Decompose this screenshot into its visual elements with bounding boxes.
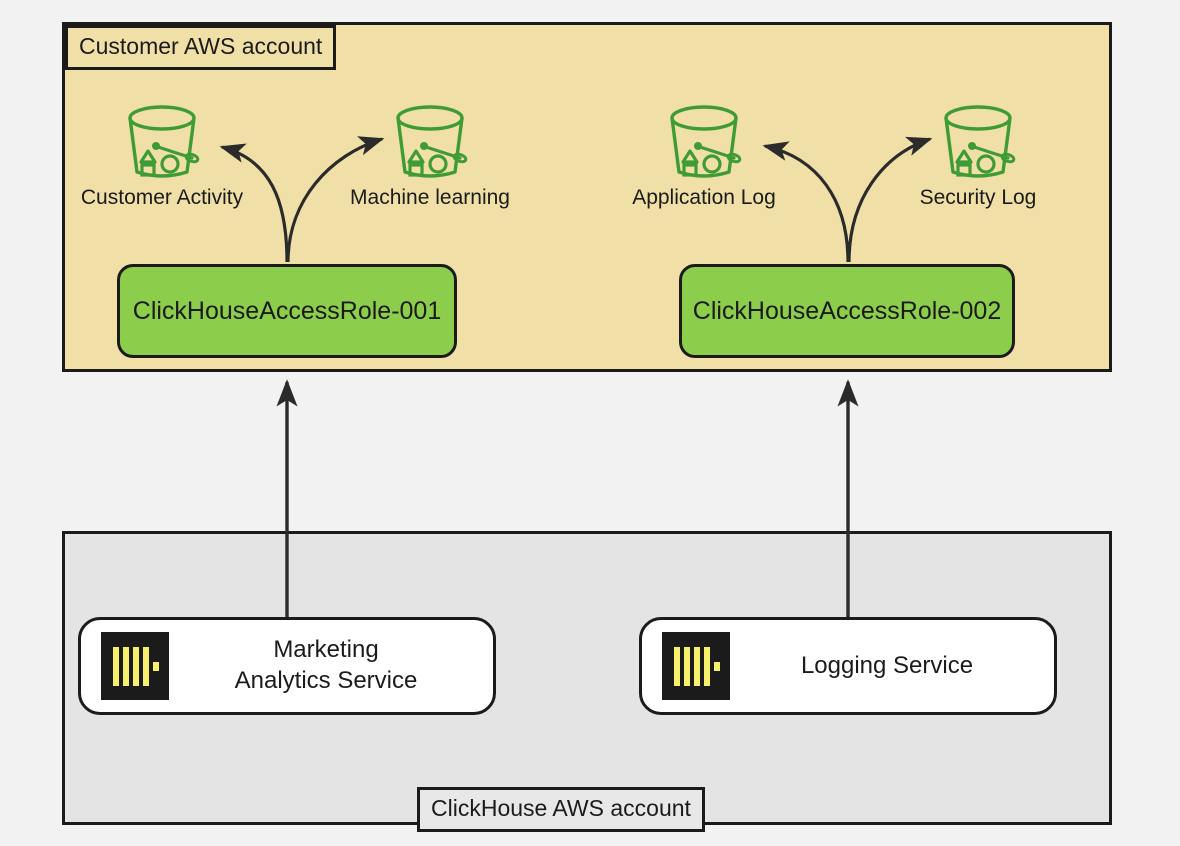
- s3-bucket-icon: [654, 104, 754, 182]
- service-box-logging[interactable]: Logging Service: [639, 617, 1057, 715]
- bucket-machine-learning[interactable]: Machine learning: [340, 104, 520, 209]
- s3-bucket-icon: [380, 104, 480, 182]
- clickhouse-logo-icon: [101, 632, 169, 700]
- role-label: ClickHouseAccessRole-002: [693, 297, 1001, 326]
- service-label-line1: Marketing: [173, 635, 479, 666]
- role-label: ClickHouseAccessRole-001: [133, 297, 441, 326]
- bucket-application-log[interactable]: Application Log: [614, 104, 794, 209]
- bucket-label: Application Log: [614, 186, 794, 209]
- bucket-security-log[interactable]: Security Log: [888, 104, 1068, 209]
- bucket-label: Security Log: [888, 186, 1068, 209]
- bucket-label: Customer Activity: [72, 186, 252, 209]
- clickhouse-aws-account-label: ClickHouse AWS account: [417, 787, 705, 832]
- role-box-clickhouseaccessrole-002[interactable]: ClickHouseAccessRole-002: [679, 264, 1015, 358]
- diagram-canvas: Customer AWS account ClickHouse AWS acco…: [0, 0, 1180, 846]
- bucket-label: Machine learning: [340, 186, 520, 209]
- customer-aws-account-label: Customer AWS account: [65, 25, 336, 70]
- service-label: Logging Service: [730, 651, 1054, 682]
- service-box-marketing-analytics[interactable]: Marketing Analytics Service: [78, 617, 496, 715]
- role-box-clickhouseaccessrole-001[interactable]: ClickHouseAccessRole-001: [117, 264, 457, 358]
- service-label-line2: Analytics Service: [173, 666, 479, 697]
- s3-bucket-icon: [112, 104, 212, 182]
- bucket-customer-activity[interactable]: Customer Activity: [72, 104, 252, 209]
- service-label-line1: Logging Service: [734, 651, 1040, 682]
- clickhouse-logo-icon: [662, 632, 730, 700]
- s3-bucket-icon: [928, 104, 1028, 182]
- service-label: Marketing Analytics Service: [169, 635, 493, 696]
